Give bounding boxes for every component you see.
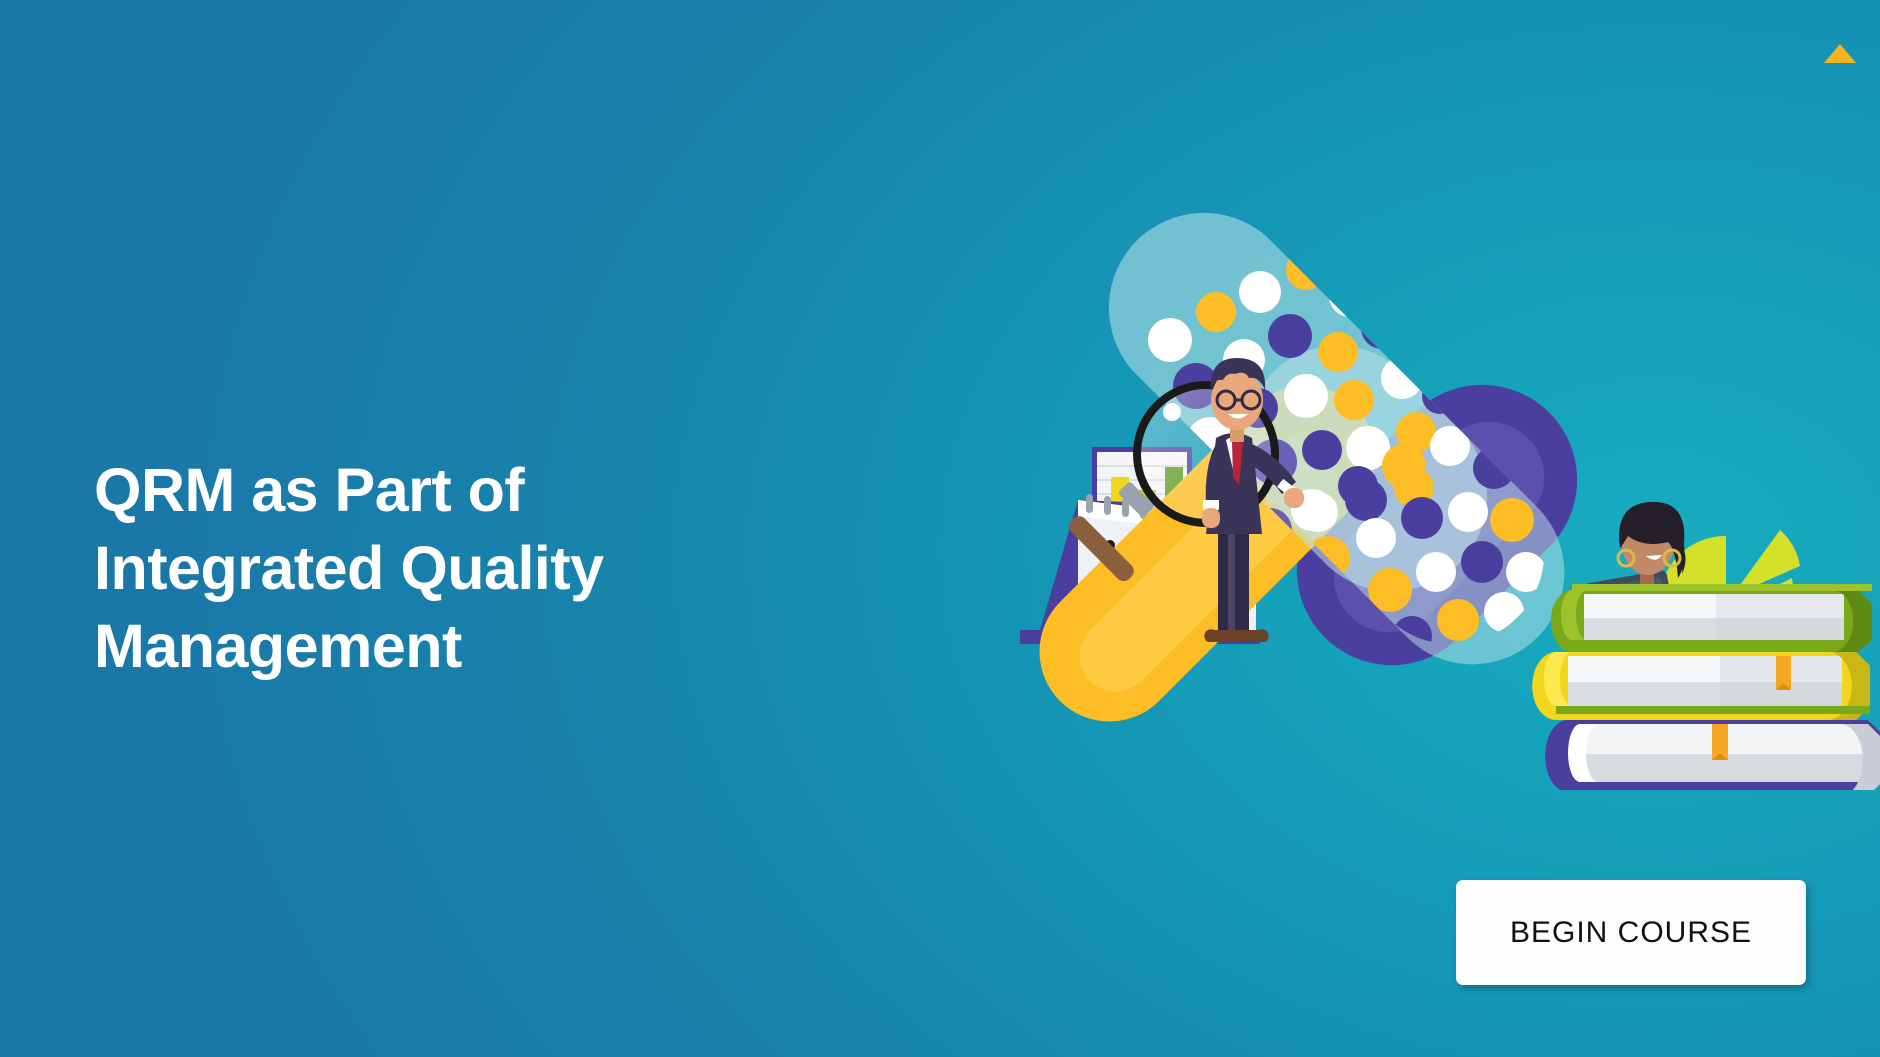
book-stack xyxy=(1532,584,1880,790)
book-middle xyxy=(1532,652,1870,720)
hero-illustration xyxy=(1020,200,1880,790)
page-title: QRM as Part of Integrated Quality Manage… xyxy=(94,451,794,685)
book-bottom xyxy=(1545,720,1880,790)
book-top xyxy=(1551,584,1872,652)
collapse-triangle-icon[interactable] xyxy=(1824,44,1856,63)
begin-course-button[interactable]: BEGIN COURSE xyxy=(1456,880,1806,985)
course-title-slide: QRM as Part of Integrated Quality Manage… xyxy=(0,0,1880,1057)
